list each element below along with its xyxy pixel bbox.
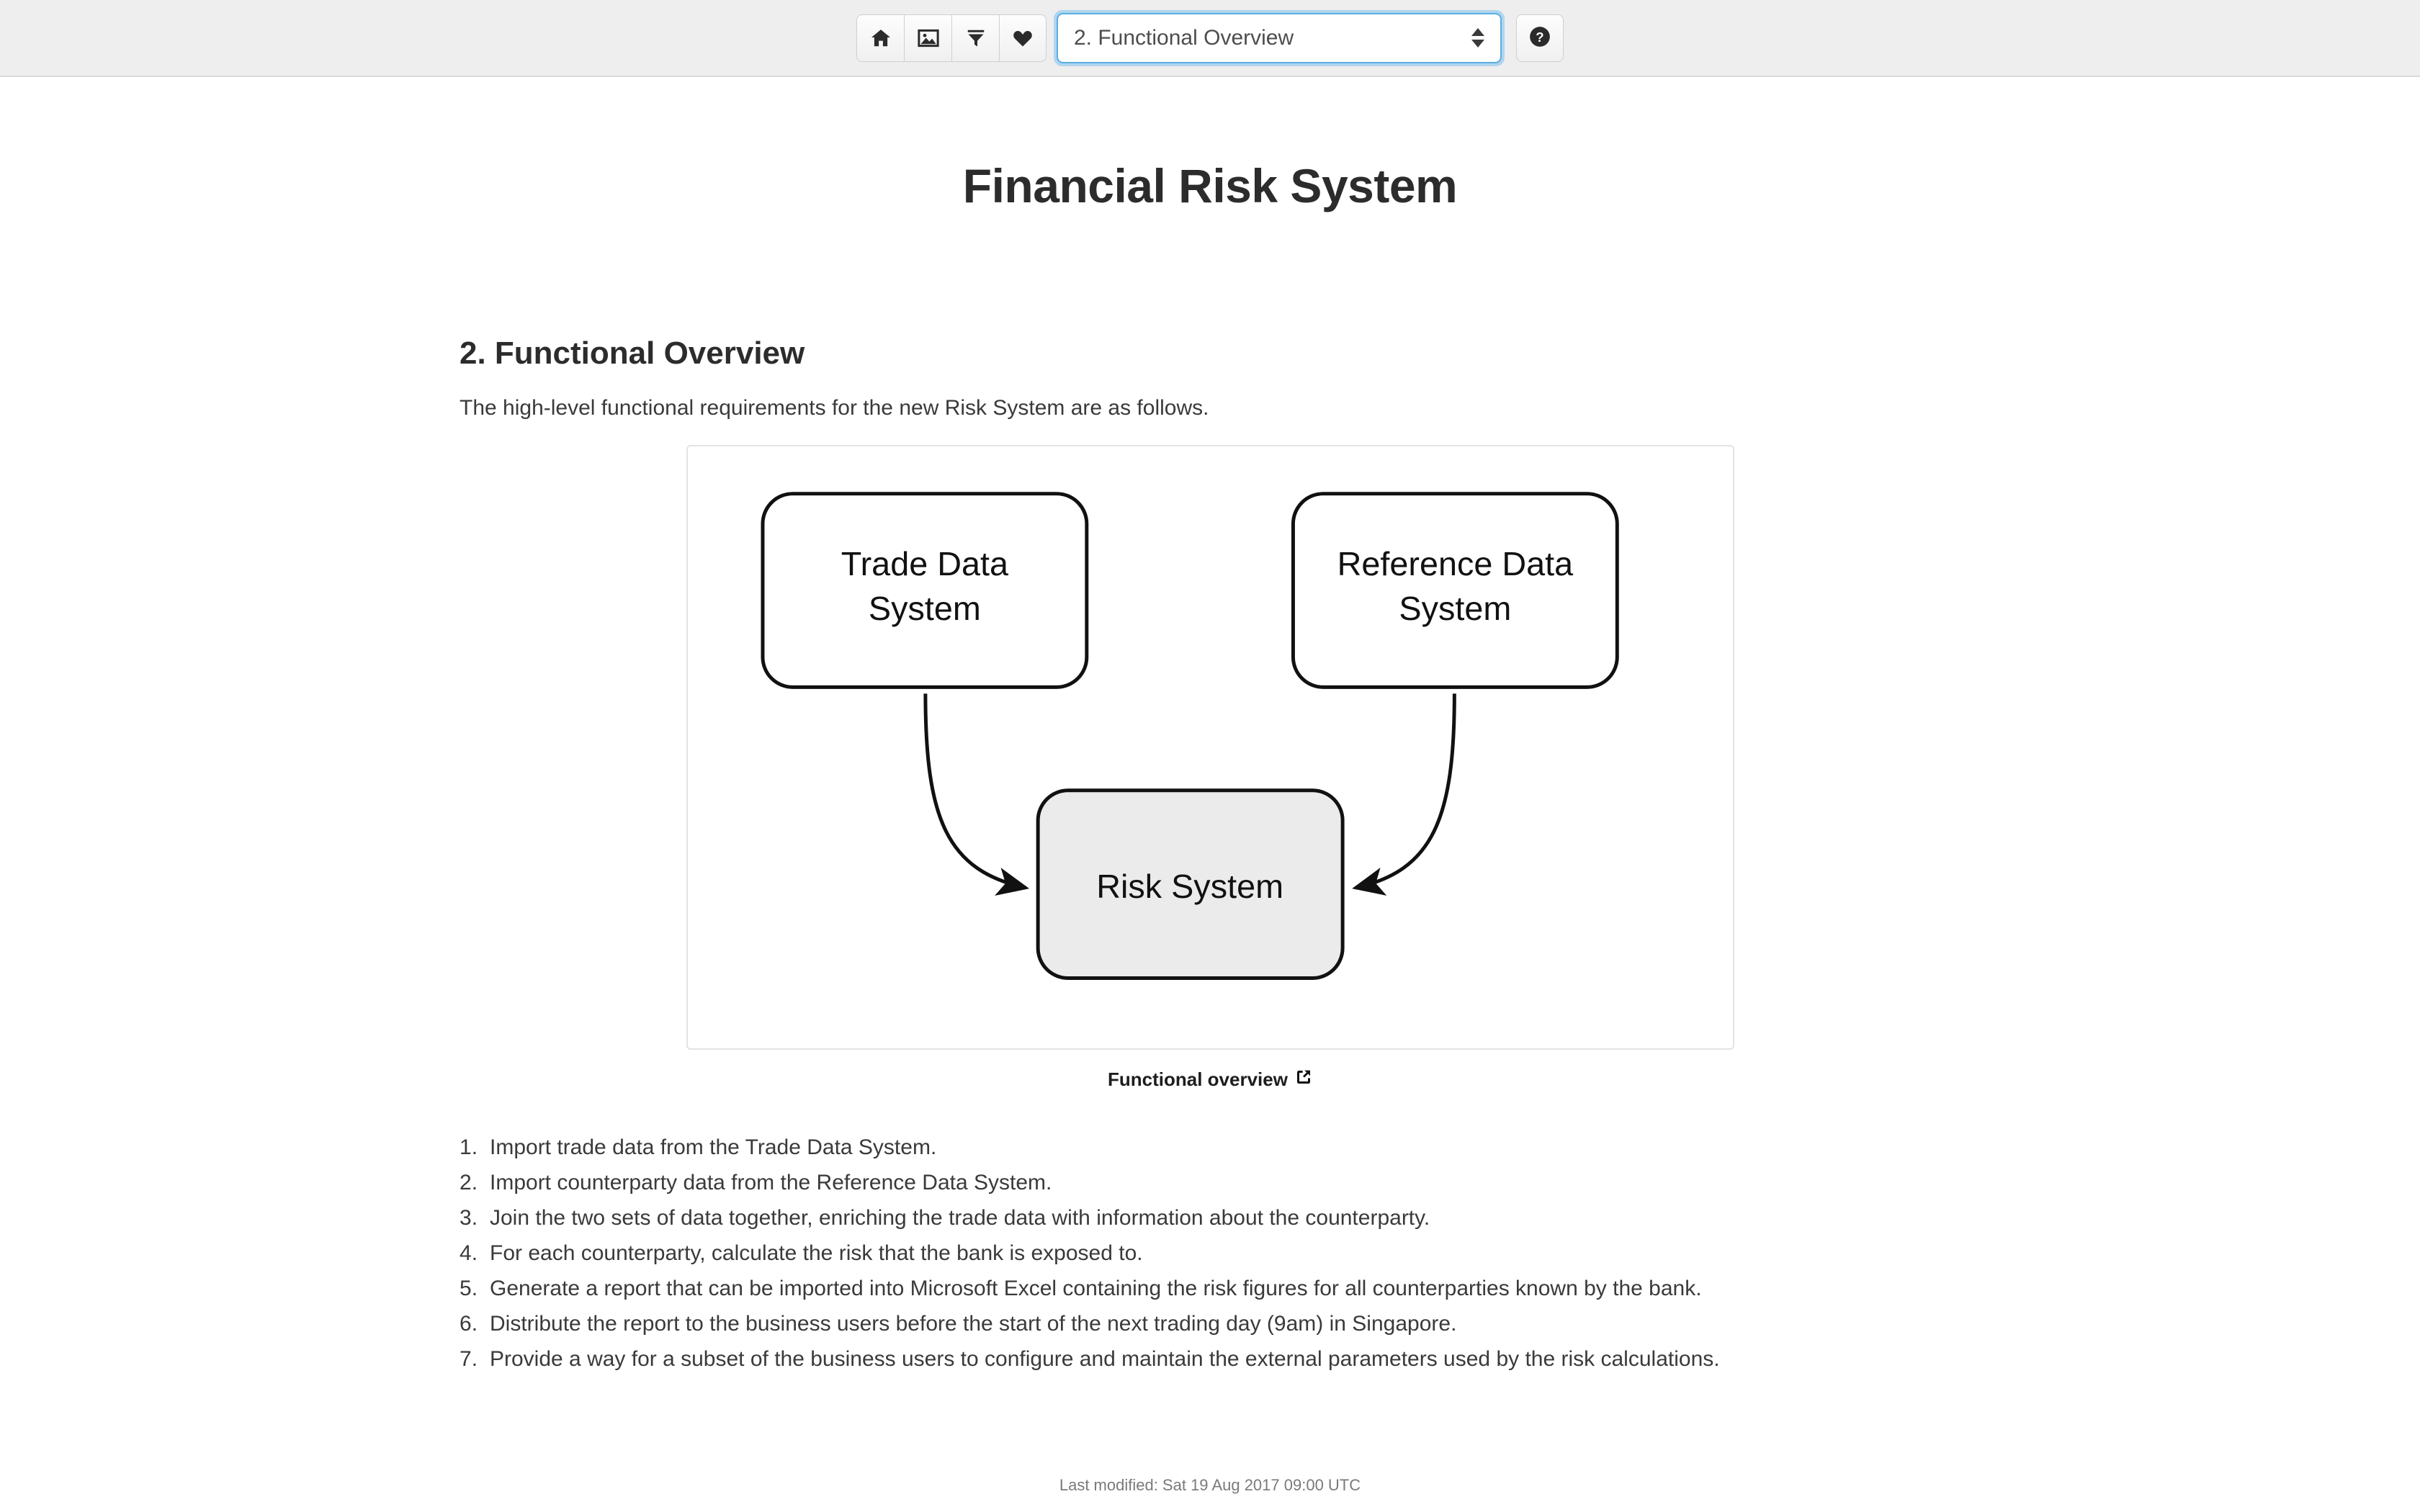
node-trade-label-1: Trade Data [841,545,1008,582]
list-item: Provide a way for a subset of the busine… [460,1349,1960,1370]
list-item: Distribute the report to the business us… [460,1313,1960,1335]
list-item: Generate a report that can be imported i… [460,1278,1960,1300]
svg-text:?: ? [1536,30,1543,45]
section-select-wrapper: 2. Functional Overview [1057,13,1502,63]
help-icon: ? [1528,25,1551,50]
toolbar-button-group [856,14,1047,62]
external-link-icon[interactable] [1295,1068,1312,1091]
toolbar-inner: 2. Functional Overview ? [856,13,1564,63]
diagram-edge-trade-to-risk [925,693,1025,888]
home-icon [870,27,892,49]
image-icon [918,27,939,49]
section-heading: 2. Functional Overview [460,336,1960,371]
images-button[interactable] [904,14,951,62]
functional-overview-diagram: Trade Data System Reference Data System … [688,446,1733,1048]
list-item: For each counterparty, calculate the ris… [460,1243,1960,1264]
node-trade-label-2: System [868,590,980,627]
main-content: 2. Functional Overview The high-level fu… [353,336,2067,1370]
help-button[interactable]: ? [1516,14,1564,62]
node-reference-label-1: Reference Data [1337,545,1574,582]
section-intro: The high-level functional requirements f… [460,394,1960,423]
section-select[interactable]: 2. Functional Overview [1057,13,1502,63]
heart-icon [1012,27,1034,49]
top-toolbar: 2. Functional Overview ? [0,0,2420,77]
functional-overview-figure: Trade Data System Reference Data System … [460,445,1960,1091]
node-risk-label-1: Risk System [1096,868,1283,905]
diagram-frame: Trade Data System Reference Data System … [686,445,1734,1050]
favourites-button[interactable] [999,14,1047,62]
page-title: Financial Risk System [0,162,2420,210]
list-item: Import counterparty data from the Refere… [460,1172,1960,1194]
home-button[interactable] [856,14,904,62]
diagram-node-trade-data-system: Trade Data System [762,494,1086,688]
diagram-edge-reference-to-risk [1355,693,1454,888]
section-select-value: 2. Functional Overview [1074,26,1471,50]
list-item: Import trade data from the Trade Data Sy… [460,1137,1960,1158]
select-spinner-icon[interactable] [1471,28,1484,48]
requirements-list: Import trade data from the Trade Data Sy… [460,1137,1960,1370]
footer-last-modified: Last modified: Sat 19 Aug 2017 09:00 UTC [0,1476,2420,1495]
diagram-node-risk-system: Risk System [1038,791,1343,978]
figure-caption[interactable]: Functional overview [1108,1068,1312,1091]
filter-button[interactable] [951,14,999,62]
filter-icon [965,27,987,49]
figure-caption-text: Functional overview [1108,1068,1288,1091]
node-reference-label-2: System [1399,590,1511,627]
list-item: Join the two sets of data together, enri… [460,1207,1960,1229]
help-button-wrapper: ? [1516,14,1564,62]
diagram-node-reference-data-system: Reference Data System [1293,494,1617,688]
